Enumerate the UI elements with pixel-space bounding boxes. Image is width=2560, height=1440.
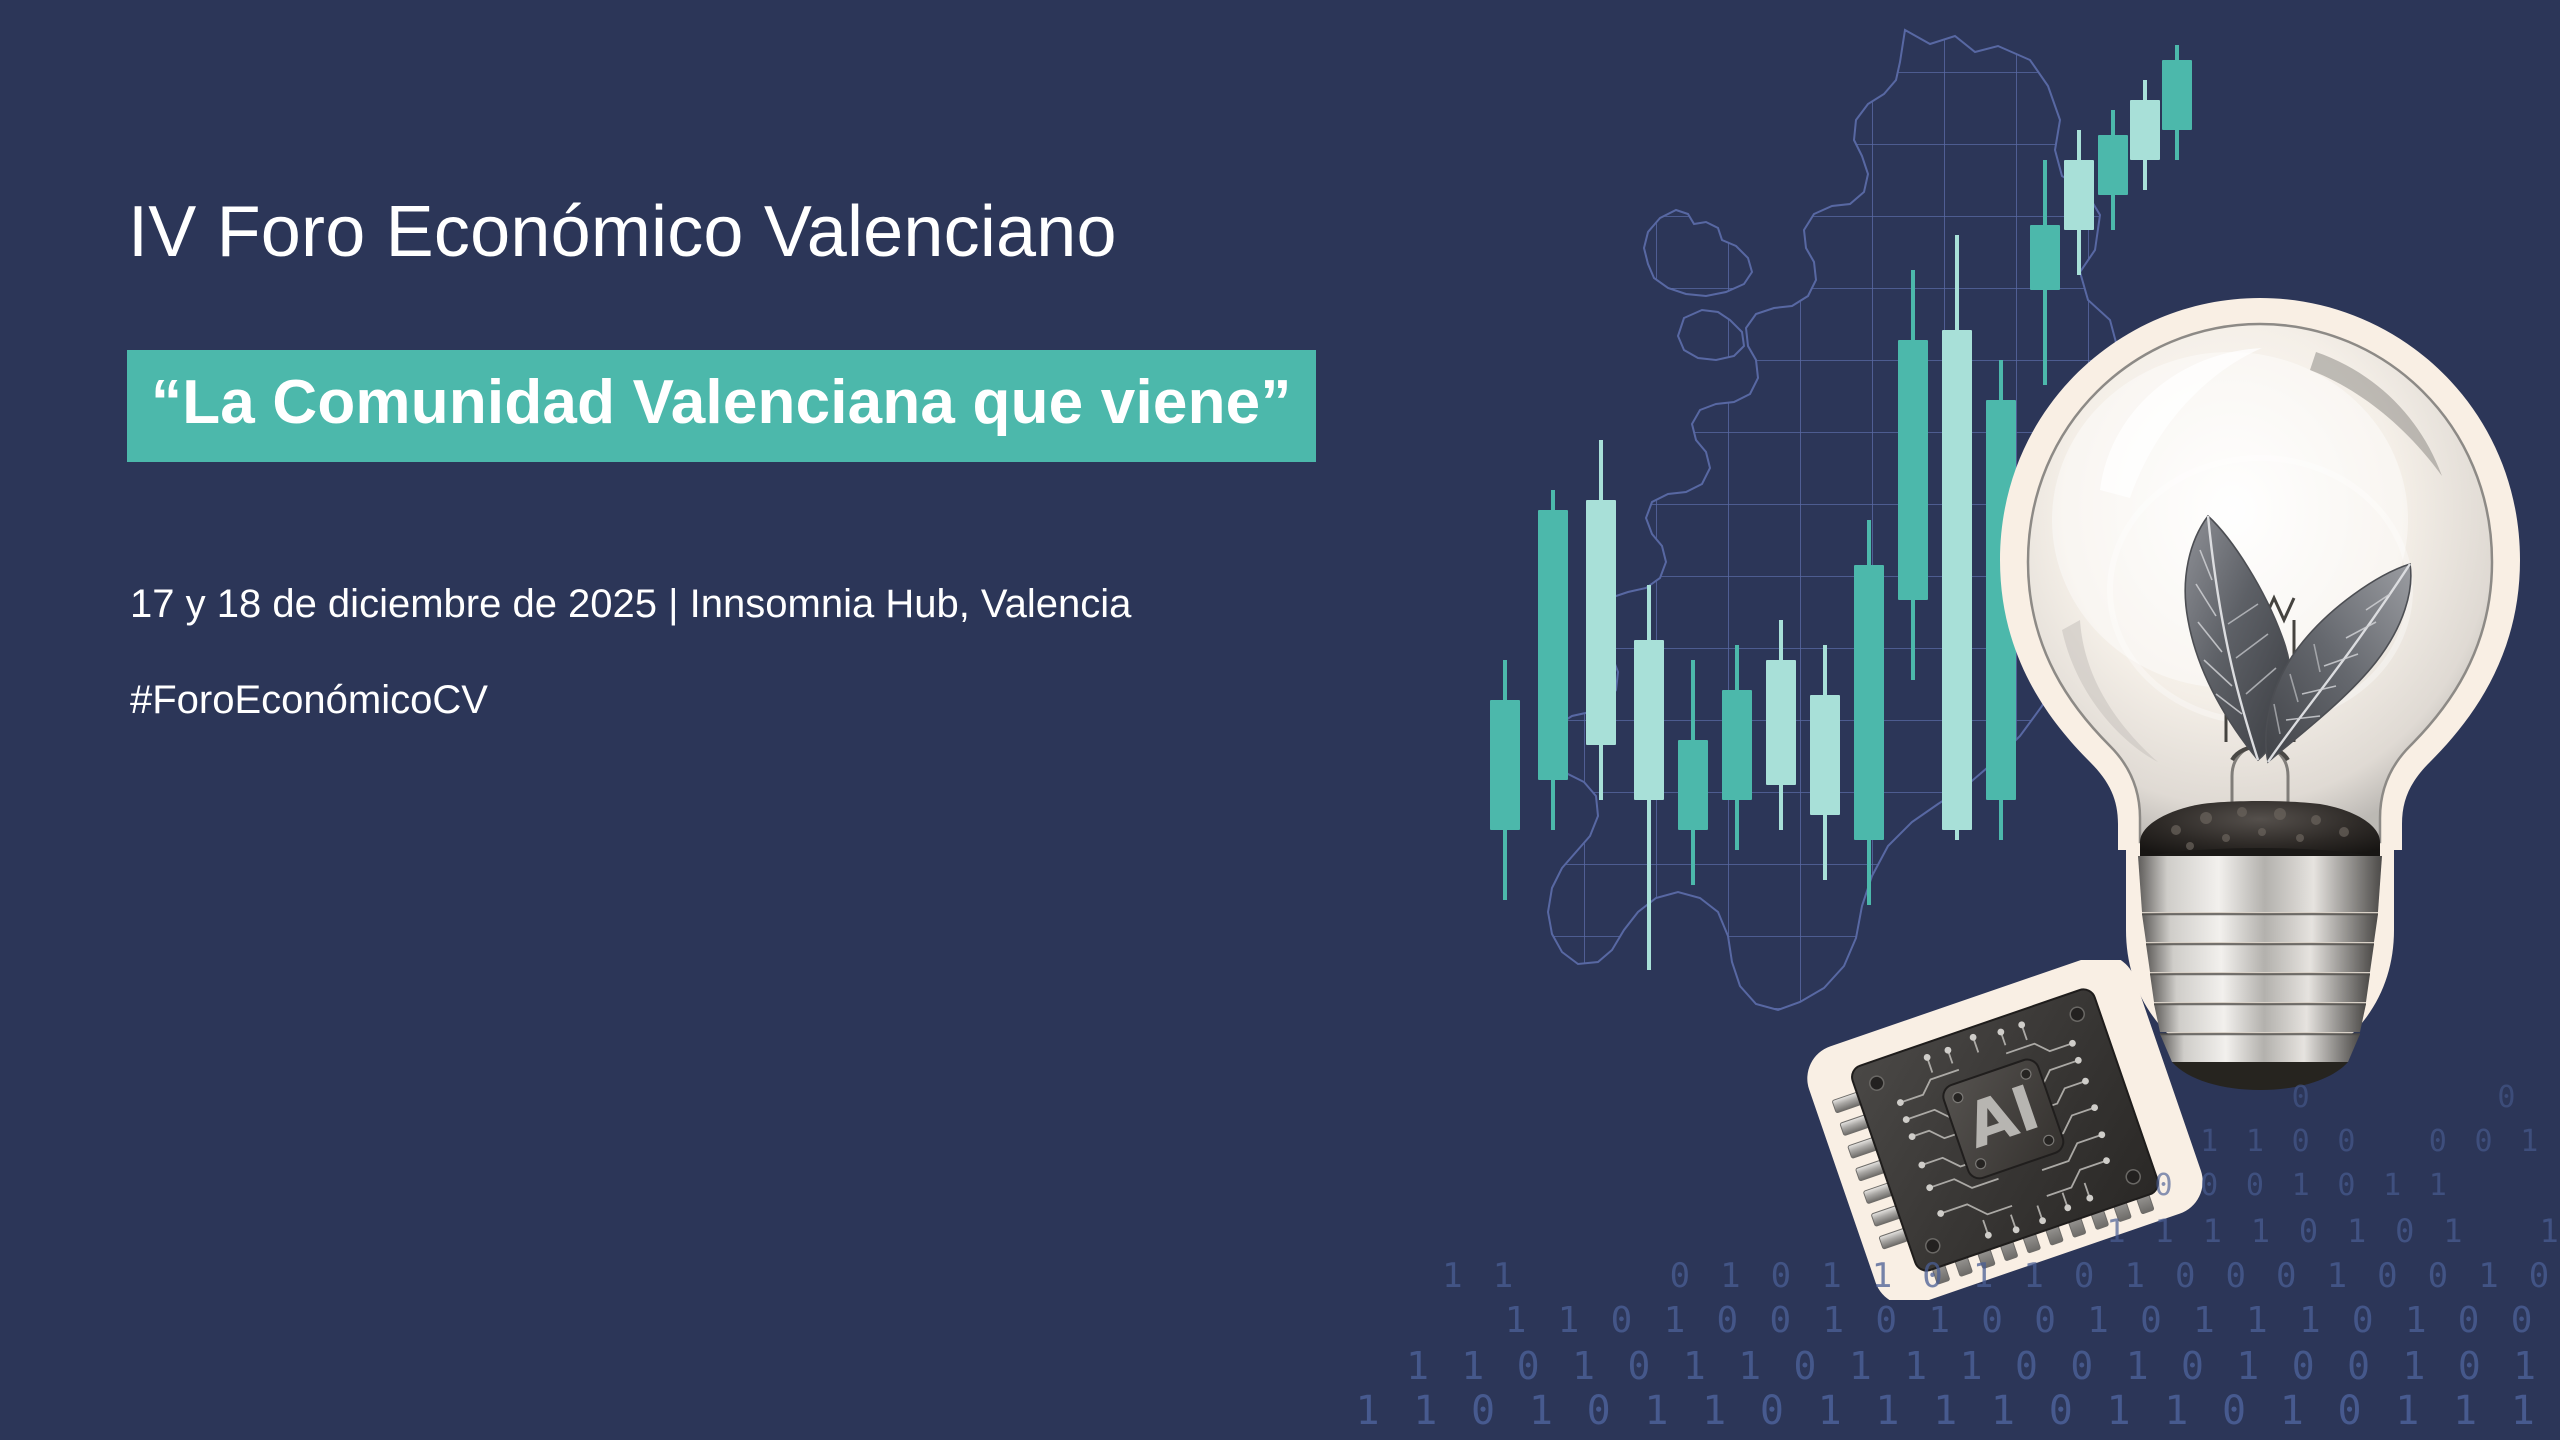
candlestick bbox=[1810, 40, 1840, 1060]
subtitle-highlight-bar: “La Comunidad Valenciana que viene” bbox=[127, 350, 1316, 462]
candle-body bbox=[1810, 695, 1840, 815]
candlestick bbox=[1538, 40, 1568, 1060]
candle-body bbox=[1942, 330, 1972, 830]
event-hashtag: #ForoEconómicoCV bbox=[130, 680, 488, 720]
candle-body bbox=[1678, 740, 1708, 830]
candle-body bbox=[2030, 225, 2060, 290]
candle-body bbox=[2098, 135, 2128, 195]
candle-body bbox=[1538, 510, 1568, 780]
binary-row: 0 0 bbox=[1240, 1080, 2520, 1115]
binary-row: 1 1 0 1 0 0 1 0 1 0 0 1 0 1 1 1 0 1 0 0 … bbox=[1240, 1300, 2560, 1341]
binary-row: 1 1 0 1 0 1 1 0 1 1 1 0 0 1 0 1 0 0 1 0 … bbox=[1240, 1344, 2560, 1388]
candle-body bbox=[2064, 160, 2094, 230]
candlestick bbox=[1854, 40, 1884, 1060]
candle-body bbox=[2162, 60, 2192, 130]
candle-body bbox=[1586, 500, 1616, 745]
candle-body bbox=[1490, 700, 1520, 830]
page-title: IV Foro Económico Valenciano bbox=[128, 196, 1117, 268]
candlestick bbox=[1586, 40, 1616, 1060]
event-banner: AI 0 0 1 1 0 0 0 0 1 0 0 0 0 1 0 1 1 0 1… bbox=[0, 0, 2560, 1440]
candlestick bbox=[1722, 40, 1752, 1060]
candlestick bbox=[1634, 40, 1664, 1060]
candlestick bbox=[1766, 40, 1796, 1060]
candlestick bbox=[1942, 40, 1972, 1060]
candle-body bbox=[1722, 690, 1752, 800]
event-subtitle: “La Comunidad Valenciana que viene” bbox=[151, 372, 1292, 434]
candle-body bbox=[1634, 640, 1664, 800]
candlestick bbox=[1898, 40, 1928, 1060]
candle-body bbox=[2130, 100, 2160, 160]
candle-body bbox=[1766, 660, 1796, 785]
binary-row: 1 1 0 1 0 1 1 0 1 1 1 1 0 1 1 0 1 0 1 1 … bbox=[1240, 1388, 2560, 1434]
event-date-venue: 17 y 18 de diciembre de 2025 | Innsomnia… bbox=[130, 584, 1131, 624]
candlestick bbox=[1490, 40, 1520, 1060]
candle-body bbox=[1854, 565, 1884, 840]
candle-body bbox=[1898, 340, 1928, 600]
sponsor-logo-row: 10 A Ñ O S EL bbox=[0, 1150, 1700, 1290]
candlestick bbox=[1678, 40, 1708, 1060]
